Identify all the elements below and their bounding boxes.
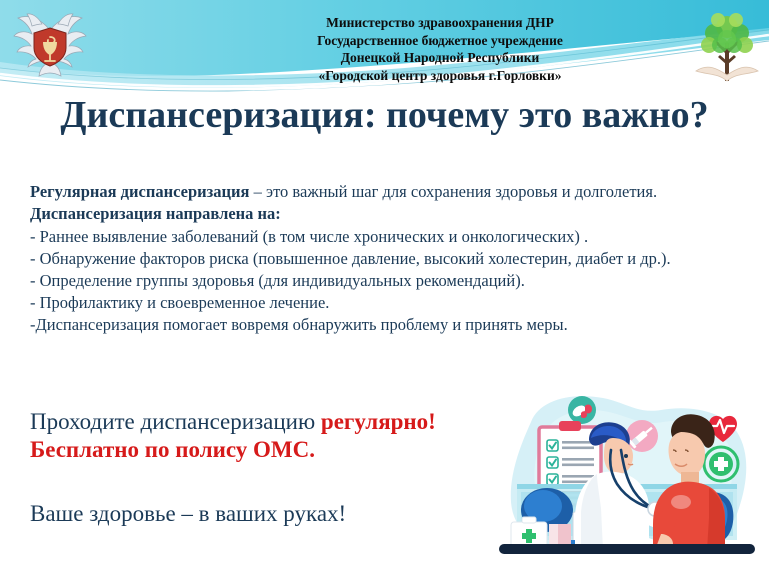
organization-titles: Министерство здравоохранения ДНР Государ…: [230, 14, 650, 84]
org-line-1: Министерство здравоохранения ДНР: [230, 14, 650, 32]
list-item: - Обнаружение факторов риска (повышенное…: [30, 248, 742, 270]
green-tree-logo: [690, 3, 764, 91]
intro-rest: – это важный шаг для сохранения здоровья…: [249, 182, 657, 201]
intro-bold-lead: Регулярная диспансеризация: [30, 182, 249, 201]
list-item: - Раннее выявление заболеваний (в том чи…: [30, 226, 742, 248]
header-banner: Министерство здравоохранения ДНР Государ…: [0, 0, 769, 95]
body-content: Регулярная диспансеризация – это важный …: [30, 182, 742, 336]
cta-line-1-accent: регулярно!: [321, 409, 436, 434]
org-line-4: «Городской центр здоровья г.Горловки»: [230, 67, 650, 85]
desk-bar: [499, 544, 755, 554]
list-item: -Диспансеризация помогает вовремя обнару…: [30, 314, 742, 336]
cta-line-1-plain: Проходите диспансеризацию: [30, 409, 321, 434]
list-item: - Определение группы здоровья (для индив…: [30, 270, 742, 292]
green-cross-icon: [704, 447, 738, 481]
poster-root: Министерство здравоохранения ДНР Государ…: [0, 0, 769, 569]
org-line-3: Донецкой Народной Республики: [230, 49, 650, 67]
pills-circle-icon: [568, 396, 596, 424]
syringe-circle-icon: [626, 420, 658, 452]
cta-line-2: Бесплатно по полису ОМС.: [30, 436, 500, 464]
intro-paragraph: Регулярная диспансеризация – это важный …: [30, 182, 742, 202]
closing-statement: Ваше здоровье – в ваших руках!: [30, 500, 346, 528]
call-to-action: Проходите диспансеризацию регулярно! Бес…: [30, 408, 500, 464]
list-item: - Профилактику и своевременное лечение.: [30, 292, 742, 314]
page-title: Диспансеризация: почему это важно?: [30, 96, 739, 134]
cta-line-1: Проходите диспансеризацию регулярно!: [30, 408, 500, 436]
double-headed-eagle-emblem: [8, 4, 92, 88]
doctor-examining-patient-illustration: [485, 388, 769, 569]
section-heading: Диспансеризация направлена на:: [30, 204, 742, 224]
org-line-2: Государственное бюджетное учреждение: [230, 32, 650, 50]
